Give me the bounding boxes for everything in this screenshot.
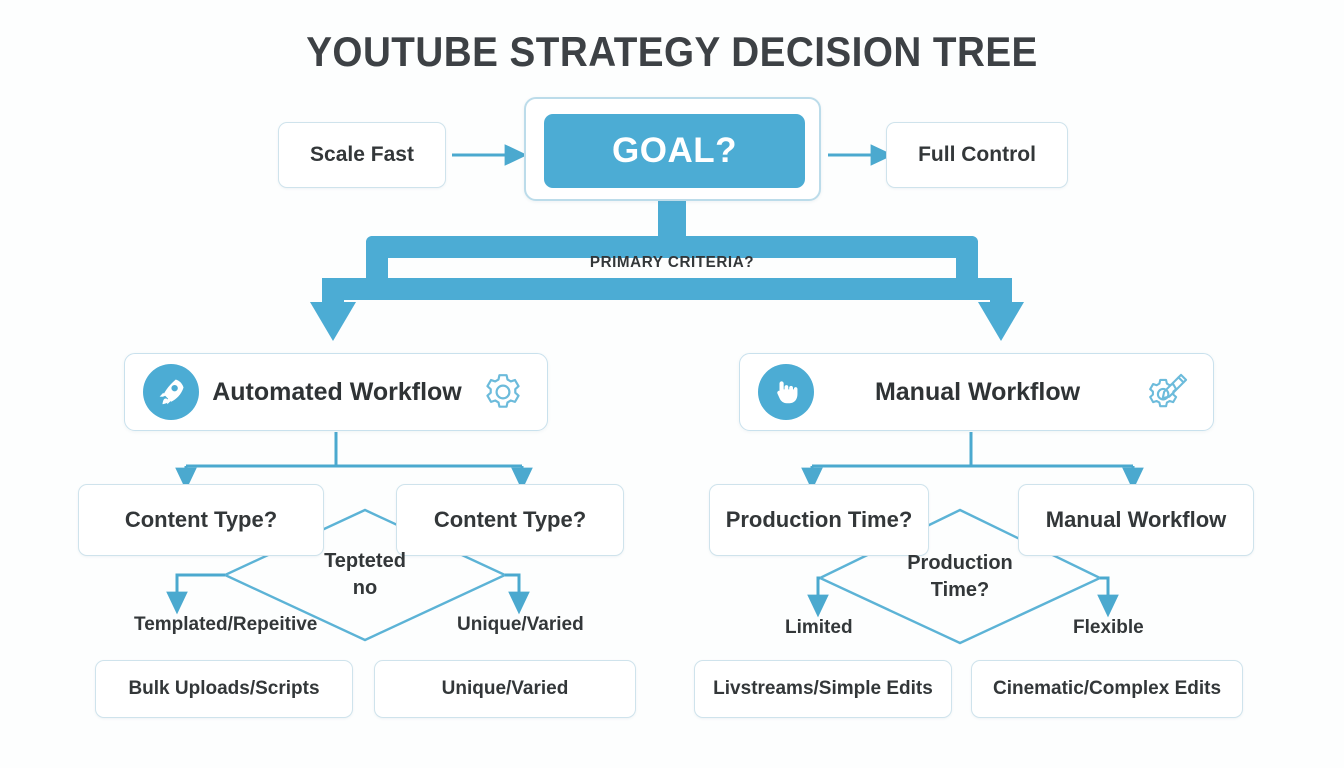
question-production-time-left[interactable]: Production Time?: [709, 484, 929, 556]
option-scale-fast[interactable]: Scale Fast: [278, 122, 446, 188]
diamond-production-time-line1: Production: [885, 550, 1035, 577]
edge-label-flexible-text: Flexible: [1073, 617, 1144, 638]
criteria-arrow-left: [310, 302, 356, 341]
diamond-content-type-line2: no: [290, 575, 440, 602]
criteria-outer-right: [990, 278, 1012, 304]
edge-label-limited-text: Limited: [785, 617, 853, 638]
primary-criteria-label: PRIMARY CRITERIA?: [34, 254, 1311, 272]
question-content-type-right-label: Content Type?: [434, 507, 586, 533]
outcome-bulk-uploads-label: Bulk Uploads/Scripts: [128, 678, 319, 700]
edge-label-limited: Limited: [785, 617, 853, 639]
branch-manual-workflow[interactable]: Manual Workflow: [739, 353, 1214, 431]
question-content-type-left[interactable]: Content Type?: [78, 484, 324, 556]
question-production-time-left-label: Production Time?: [726, 507, 913, 533]
goal-node[interactable]: GOAL?: [524, 97, 821, 201]
gear-pencil-icon: [1141, 369, 1197, 415]
branch-automated-workflow-label: Automated Workflow: [199, 378, 475, 407]
question-manual-workflow-right[interactable]: Manual Workflow: [1018, 484, 1254, 556]
branch-manual-workflow-label: Manual Workflow: [814, 378, 1141, 407]
outcome-livestreams[interactable]: Livstreams/Simple Edits: [694, 660, 952, 718]
outcome-unique-varied[interactable]: Unique/Varied: [374, 660, 636, 718]
outcome-unique-varied-label: Unique/Varied: [442, 678, 569, 700]
question-manual-workflow-right-label: Manual Workflow: [1046, 507, 1227, 533]
edge-label-unique-varied: Unique/Varied: [457, 614, 584, 636]
question-content-type-left-label: Content Type?: [125, 507, 277, 533]
criteria-bar-lower: [322, 278, 1012, 300]
rocket-icon: [143, 364, 199, 420]
option-full-control-label: Full Control: [918, 143, 1036, 167]
edge-diamond2-right-out: [1100, 578, 1108, 606]
edge-label-flexible: Flexible: [1073, 617, 1144, 639]
edge-label-templated-text: Templated/Repeitive: [134, 614, 317, 635]
edge-diamond-right-out: [505, 575, 519, 603]
gear-icon: [475, 371, 531, 413]
criteria-arrow-right: [978, 302, 1024, 341]
outcome-livestreams-label: Livstreams/Simple Edits: [713, 678, 933, 700]
option-full-control[interactable]: Full Control: [886, 122, 1068, 188]
diamond-production-time-label: Production Time?: [885, 550, 1035, 604]
option-scale-fast-label: Scale Fast: [310, 143, 414, 167]
question-content-type-right[interactable]: Content Type?: [396, 484, 624, 556]
goal-node-fill: GOAL?: [544, 114, 805, 188]
criteria-outer-left: [322, 278, 344, 304]
edge-label-templated: Templated/Repeitive: [134, 614, 317, 636]
hand-pointer-icon: [758, 364, 814, 420]
outcome-cinematic-label: Cinematic/Complex Edits: [993, 678, 1221, 700]
branch-automated-workflow[interactable]: Automated Workflow: [124, 353, 548, 431]
diamond-content-type-line1: Tepteted: [290, 548, 440, 575]
diamond-production-time-line2: Time?: [885, 577, 1035, 604]
outcome-bulk-uploads[interactable]: Bulk Uploads/Scripts: [95, 660, 353, 718]
goal-stem: [658, 199, 686, 239]
outcome-cinematic[interactable]: Cinematic/Complex Edits: [971, 660, 1243, 718]
decision-tree-diagram: YOUTUBE STRATEGY DECISION TREE: [0, 0, 1344, 768]
edge-diamond-left-out: [177, 575, 225, 603]
goal-node-label: GOAL?: [612, 131, 737, 171]
edge-label-unique-varied-text: Unique/Varied: [457, 614, 584, 635]
edge-diamond2-left-out: [818, 578, 820, 606]
diamond-content-type-label: Tepteted no: [290, 548, 440, 602]
